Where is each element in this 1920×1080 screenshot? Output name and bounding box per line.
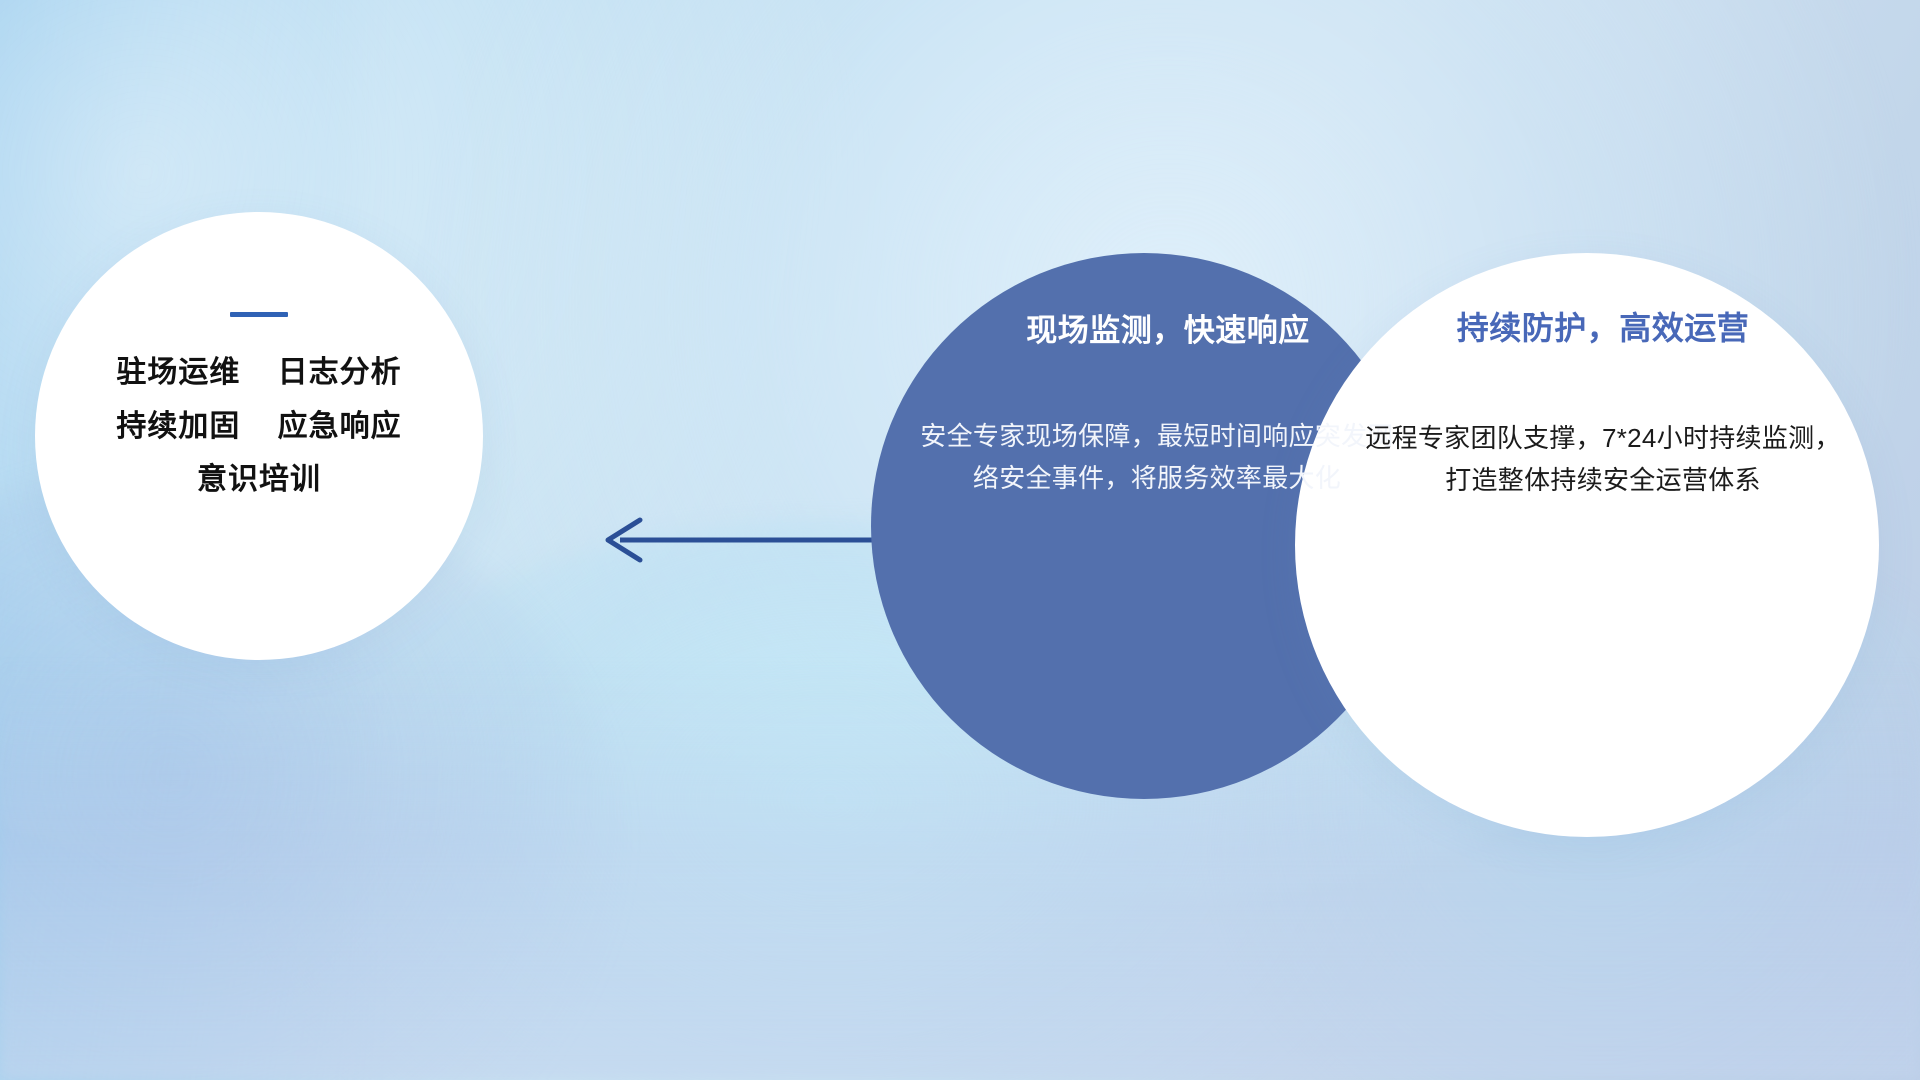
continuous-protection-content: 持续防护，高效运营 远程专家团队支撑，7*24小时持续监测，打造整体持续安全运营… [1295,253,1879,837]
capability-row-3: 意识培训 [197,464,321,496]
capability-list: 驻场运维 日志分析 持续加固 应急响应 意识培训 [116,357,401,496]
left-circle-content: 驻场运维 日志分析 持续加固 应急响应 意识培训 [35,212,483,660]
capability-row-1: 驻场运维 日志分析 [116,357,401,389]
horizontal-dash-icon [230,312,288,317]
capability-row-2: 持续加固 应急响应 [116,411,401,443]
continuous-protection-title: 持续防护，高效运营 [1355,303,1851,349]
slide-canvas: 驻场运维 日志分析 持续加固 应急响应 意识培训 现场监测，快速响应 安全专家现… [0,0,1920,1080]
continuous-protection-body: 远程专家团队支撑，7*24小时持续监测，打造整体持续安全运营体系 [1357,417,1849,501]
